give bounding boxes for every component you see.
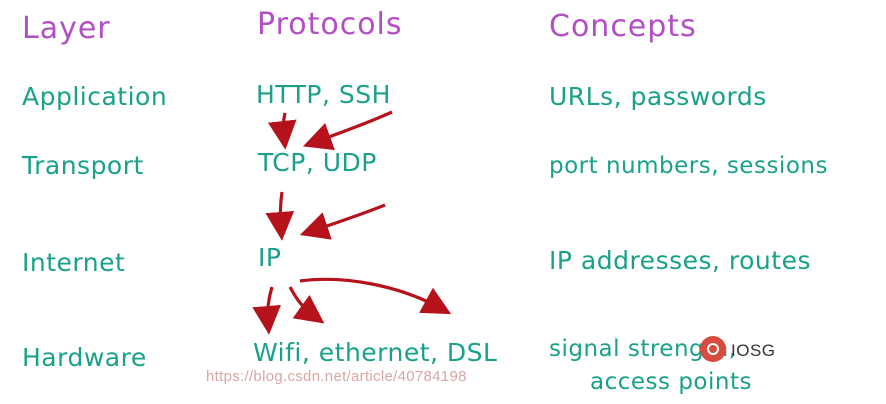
row-protocols-transport: TCP, UDP	[258, 150, 377, 175]
row-concepts-transport: port numbers, sessions	[549, 155, 828, 178]
watermark-brand: IOSG	[731, 341, 776, 361]
watermark-url: https://blog.csdn.net/article/40784198	[206, 368, 467, 385]
column-header-layer: Layer	[22, 14, 111, 44]
arrow-ip-to-wifi	[268, 287, 272, 322]
row-label-internet: Internet	[22, 250, 125, 275]
row-label-transport: Transport	[22, 153, 144, 178]
arrow-ip-to-ethernet	[290, 287, 314, 316]
row-concepts-application: URLs, passwords	[549, 84, 767, 109]
row-protocols-application: HTTP, SSH	[256, 82, 391, 107]
column-header-concepts: Concepts	[549, 12, 697, 42]
arrow-udp-to-ip	[312, 205, 385, 231]
row-protocols-hardware: Wifi, ethernet, DSL	[253, 340, 497, 365]
iosg-logo-icon	[700, 336, 726, 362]
row-label-application: Application	[22, 84, 167, 109]
column-header-protocols: Protocols	[257, 10, 403, 40]
diagram-canvas: Layer Protocols Concepts Application HTT…	[0, 0, 886, 404]
arrow-http-to-tcp	[283, 113, 285, 137]
row-concepts-hardware-line2: access points	[590, 371, 752, 394]
row-protocols-internet: IP	[258, 245, 281, 270]
arrow-tcp-to-ip	[280, 192, 282, 228]
row-label-hardware: Hardware	[22, 345, 147, 370]
row-concepts-internet: IP addresses, routes	[549, 248, 811, 273]
arrow-ssh-to-tcp	[315, 112, 392, 142]
arrow-ip-to-dsl	[300, 279, 440, 308]
